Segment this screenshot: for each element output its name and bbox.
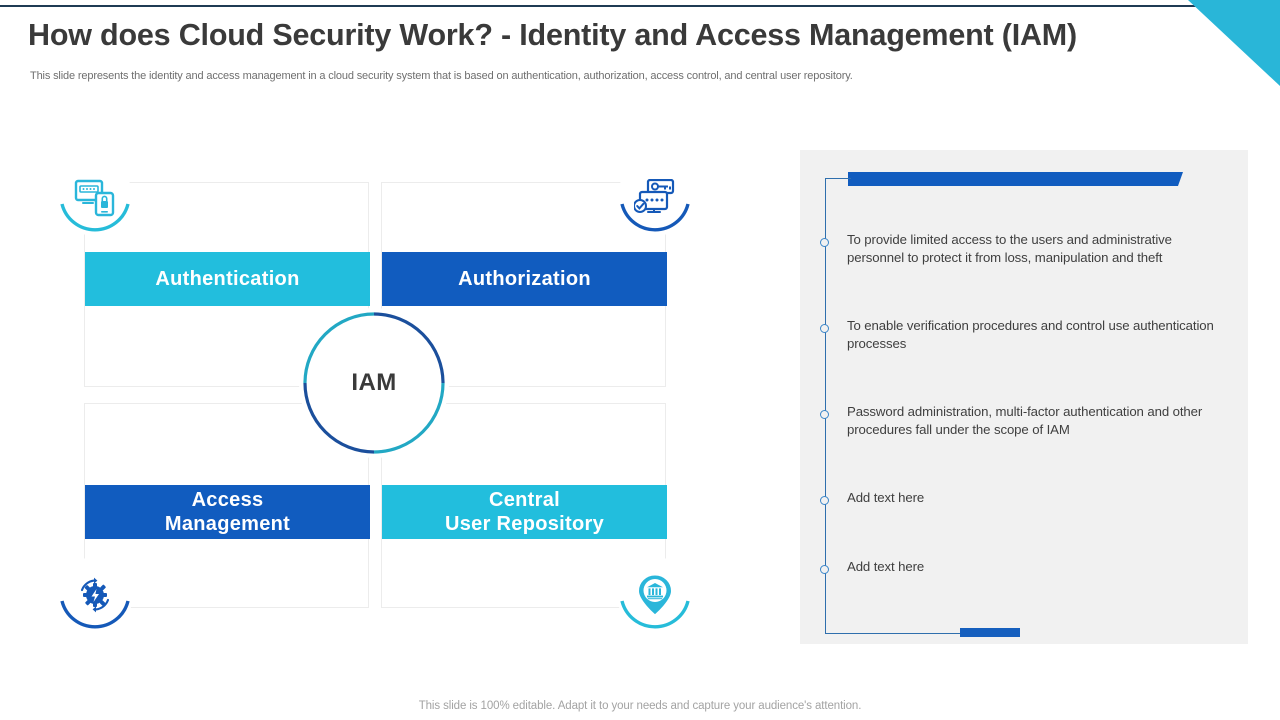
panel-top-accent-bar xyxy=(848,172,1183,186)
bullet-dot-icon xyxy=(820,238,829,247)
iam-center-ring: IAM xyxy=(299,308,449,458)
monitor-lock-icon xyxy=(73,176,117,220)
badge-central-user-repository[interactable] xyxy=(617,557,693,633)
list-item-text: Add text here xyxy=(847,558,1232,576)
bullet-dot-icon xyxy=(820,410,829,419)
badge-authentication[interactable] xyxy=(57,160,133,236)
iam-quadrant-diagram: Authentication Authorization Access Mana… xyxy=(84,182,668,608)
quadrant-label-central-user-repository[interactable]: Central User Repository xyxy=(382,485,667,539)
bullet-dot-icon xyxy=(820,496,829,505)
bullet-dot-icon xyxy=(820,565,829,574)
gear-refresh-icon xyxy=(73,573,117,617)
key-verified-icon xyxy=(633,176,677,220)
list-item-text: To provide limited access to the users a… xyxy=(847,231,1232,267)
page-subtitle: This slide represents the identity and a… xyxy=(30,70,1160,82)
quadrant-label-authorization[interactable]: Authorization xyxy=(382,252,667,306)
location-bank-icon xyxy=(633,573,677,617)
badge-access-management[interactable] xyxy=(57,557,133,633)
list-item-text: Add text here xyxy=(847,489,1232,507)
page-title: How does Cloud Security Work? - Identity… xyxy=(28,18,1208,53)
slide-footer-note: This slide is 100% editable. Adapt it to… xyxy=(0,700,1280,712)
quadrant-label-authentication[interactable]: Authentication xyxy=(85,252,370,306)
panel-spine-top-connector xyxy=(825,178,851,179)
details-panel: To provide limited access to the users a… xyxy=(800,150,1248,644)
list-item-text: Password administration, multi-factor au… xyxy=(847,403,1232,439)
panel-bottom-accent-bar xyxy=(960,628,1020,637)
quadrant-label-access-management[interactable]: Access Management xyxy=(85,485,370,539)
slide-canvas: How does Cloud Security Work? - Identity… xyxy=(0,0,1280,720)
bullet-dot-icon xyxy=(820,324,829,333)
iam-center-label: IAM xyxy=(299,308,449,458)
header-rule xyxy=(0,5,1232,7)
list-item-text: To enable verification procedures and co… xyxy=(847,317,1232,353)
badge-authorization[interactable] xyxy=(617,160,693,236)
